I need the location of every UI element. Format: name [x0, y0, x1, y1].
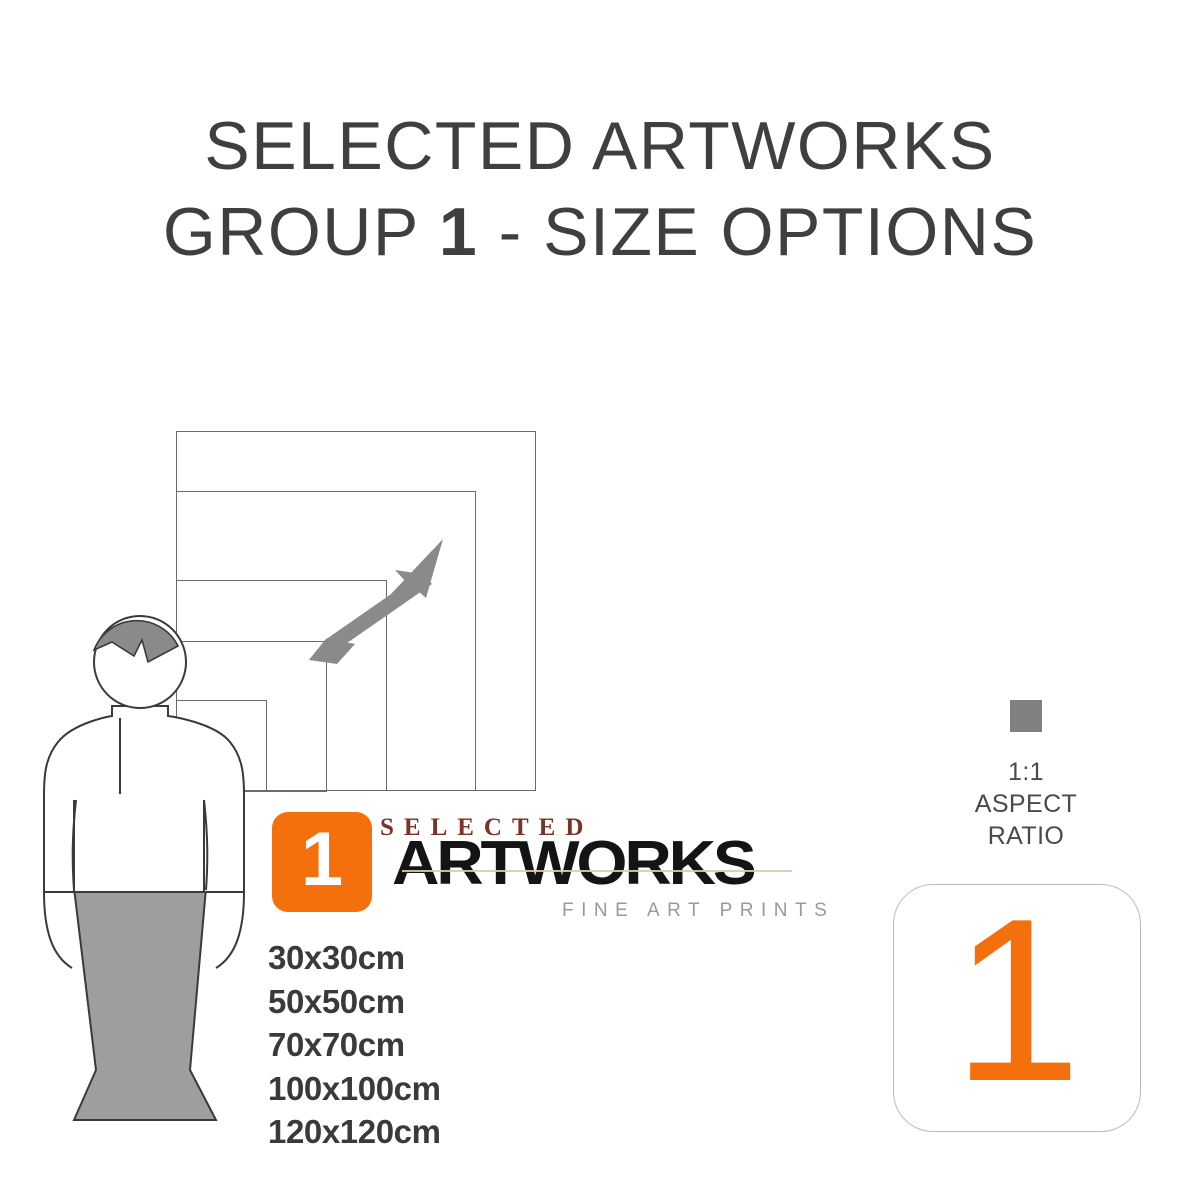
standing-person-icon: [38, 600, 278, 1160]
square-swatch-icon: [1010, 700, 1042, 732]
group-badge-number: 1: [301, 822, 343, 898]
aspect-label-line-2: RATIO: [928, 820, 1124, 852]
list-item: 30x30cm: [268, 936, 608, 980]
title-line-2-suffix: - SIZE OPTIONS: [478, 194, 1037, 270]
wordmark-tagline: FINE ART PRINTS: [562, 900, 834, 922]
list-item: 50x50cm: [268, 980, 608, 1024]
size-options-list: 30x30cm 50x50cm 70x70cm 100x100cm 120x12…: [268, 936, 608, 1154]
group-number-card: 1: [893, 884, 1141, 1132]
poster-canvas: SELECTED ARTWORKS GROUP 1 - SIZE OPTIONS: [0, 0, 1200, 1200]
wordmark-strike-decoration: [402, 870, 792, 872]
group-number-digit: 1: [952, 885, 1081, 1117]
list-item: 100x100cm: [268, 1067, 608, 1111]
title-line-2: GROUP 1 - SIZE OPTIONS: [0, 198, 1200, 266]
title-line-2-prefix: GROUP: [163, 194, 439, 270]
title-line-1: SELECTED ARTWORKS: [0, 112, 1200, 180]
aspect-ratio-value: 1:1: [928, 756, 1124, 788]
diagonal-arrow-up-right-icon: [295, 522, 465, 672]
aspect-ratio-block: 1:1 ASPECT RATIO: [928, 700, 1124, 852]
aspect-label-line-1: ASPECT: [928, 788, 1124, 820]
title-group-number: 1: [439, 194, 478, 270]
list-item: 120x120cm: [268, 1110, 608, 1154]
page-title: SELECTED ARTWORKS GROUP 1 - SIZE OPTIONS: [0, 112, 1200, 266]
brand-wordmark: SELECTED ARTWORKS FINE ART PRINTS: [380, 812, 840, 924]
list-item: 70x70cm: [268, 1023, 608, 1067]
group-badge: 1: [272, 812, 372, 912]
wordmark-artworks: ARTWORKS: [392, 828, 754, 899]
brand-logo: 1 SELECTED ARTWORKS FINE ART PRINTS: [272, 812, 842, 924]
